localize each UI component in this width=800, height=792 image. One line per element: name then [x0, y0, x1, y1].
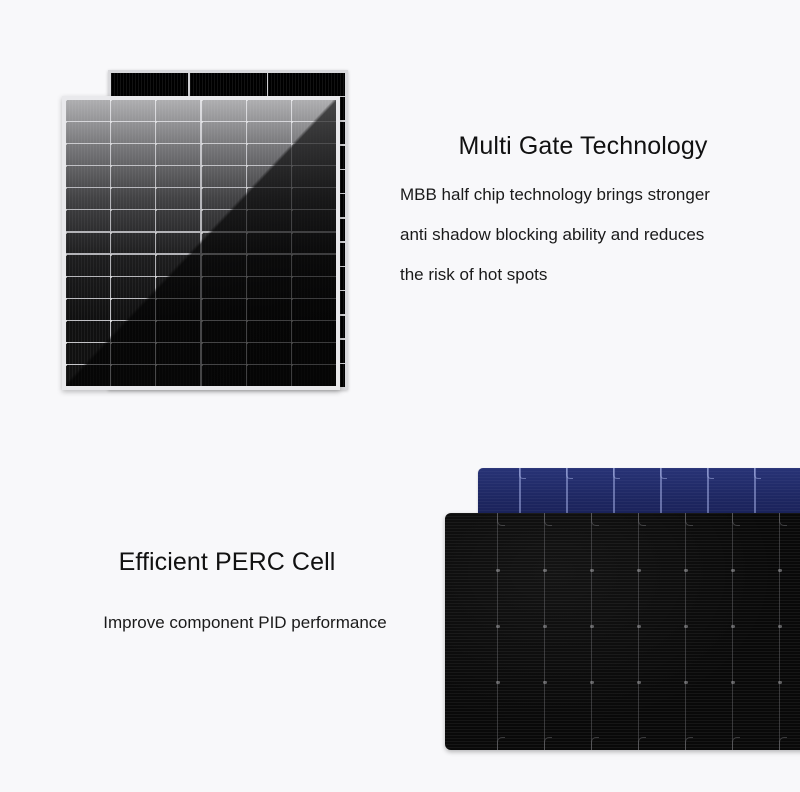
solar-cell [66, 233, 110, 254]
busbar [732, 513, 733, 750]
busbar [685, 513, 686, 750]
solar-cell [66, 343, 110, 364]
busbar-notch-icon [779, 737, 787, 750]
solar-cell [202, 210, 246, 231]
solar-cell [111, 166, 155, 187]
solar-cell [292, 210, 336, 231]
solder-dot [496, 681, 500, 684]
solder-dot [496, 569, 500, 572]
solar-cell [247, 277, 291, 298]
perc-cell-heading: Efficient PERC Cell [60, 548, 430, 577]
solar-cell [66, 100, 110, 121]
solar-cell [111, 299, 155, 320]
busbar [497, 513, 498, 750]
solar-cell [202, 321, 246, 342]
solar-cell [66, 277, 110, 298]
solar-cell [156, 144, 200, 165]
solder-dot [684, 569, 688, 572]
solar-cell [247, 299, 291, 320]
solar-cell [247, 144, 291, 165]
solar-cell [202, 144, 246, 165]
multi-gate-text-block: Multi Gate Technology MBB half chip tech… [400, 132, 780, 305]
solar-cell [111, 188, 155, 209]
solder-dot [731, 569, 735, 572]
solar-cell [111, 210, 155, 231]
solar-cell [111, 365, 155, 386]
solar-cell [156, 233, 200, 254]
solar-cell [247, 166, 291, 187]
solar-cell [66, 321, 110, 342]
section-efficient-perc-cell: Efficient PERC Cell Improve component PI… [0, 430, 800, 792]
busbar [779, 513, 780, 750]
busbar-notch-icon [497, 737, 505, 750]
solar-cell [111, 122, 155, 143]
solder-dot [496, 625, 500, 628]
busbar-notch-icon [638, 737, 646, 750]
solar-module-front-cell-grid [66, 100, 336, 386]
solar-cell [156, 365, 200, 386]
solder-dot [543, 681, 547, 684]
multi-gate-body-line-2: anti shadow blocking ability and reduces [400, 225, 780, 245]
solar-cell [247, 321, 291, 342]
solar-cell [111, 144, 155, 165]
busbar-notch-icon [660, 468, 667, 479]
solar-cell [292, 233, 336, 254]
solar-cell [156, 210, 200, 231]
solder-dot [543, 625, 547, 628]
busbar-notch-icon [638, 513, 646, 526]
busbar-notch-icon [732, 737, 740, 750]
solder-dot [684, 625, 688, 628]
solar-cell [268, 73, 345, 96]
solar-cell [202, 233, 246, 254]
solar-cell [292, 188, 336, 209]
solar-cell [66, 144, 110, 165]
solar-cell [292, 100, 336, 121]
solar-cell [156, 100, 200, 121]
multi-gate-heading: Multi Gate Technology [400, 132, 780, 161]
feature-page: Multi Gate Technology MBB half chip tech… [0, 0, 800, 792]
solar-cell [156, 321, 200, 342]
solar-cell [292, 299, 336, 320]
solar-cell [156, 299, 200, 320]
solar-cell [202, 122, 246, 143]
solar-cell [66, 166, 110, 187]
busbar-notch-icon [732, 513, 740, 526]
solder-dot [637, 625, 641, 628]
solar-cell [111, 343, 155, 364]
section-multi-gate-technology: Multi Gate Technology MBB half chip tech… [0, 0, 800, 430]
solar-cell [111, 100, 155, 121]
busbar-notch-icon [497, 513, 505, 526]
solder-dot [778, 625, 782, 628]
solar-cell [202, 277, 246, 298]
busbar-notch-icon [685, 737, 693, 750]
solar-cell [156, 255, 200, 276]
solar-module-front [62, 96, 340, 390]
solar-cell [247, 233, 291, 254]
solar-cell [66, 122, 110, 143]
solar-cell [292, 365, 336, 386]
solar-cell [202, 188, 246, 209]
solar-cell [202, 100, 246, 121]
solar-cell [202, 365, 246, 386]
solar-cell [66, 365, 110, 386]
perc-cell-black [445, 513, 800, 750]
busbar [544, 513, 545, 750]
solar-cell [156, 188, 200, 209]
busbar-notch-icon [544, 737, 552, 750]
solder-dot [637, 681, 641, 684]
busbar-notch-icon [613, 468, 620, 479]
solar-cell [111, 321, 155, 342]
solar-cell [292, 321, 336, 342]
solar-cell [66, 299, 110, 320]
solar-cell [292, 343, 336, 364]
multi-gate-body-line-3: the risk of hot spots [400, 265, 780, 285]
solar-cell [247, 365, 291, 386]
busbar-notch-icon [591, 737, 599, 750]
solder-dot [590, 681, 594, 684]
busbar-notch-icon [519, 468, 526, 479]
solder-dot [778, 569, 782, 572]
solar-cell [156, 277, 200, 298]
solar-cell [247, 343, 291, 364]
busbar-notch-icon [544, 513, 552, 526]
solar-cell [156, 343, 200, 364]
multi-gate-body-line-1: MBB half chip technology brings stronger [400, 185, 780, 205]
solder-dot [731, 625, 735, 628]
solar-cell [156, 166, 200, 187]
busbar-notch-icon [566, 468, 573, 479]
solar-cell [202, 166, 246, 187]
solar-cell [247, 122, 291, 143]
solder-dot [590, 625, 594, 628]
solar-cell [247, 188, 291, 209]
solar-cell [111, 255, 155, 276]
solar-cell [66, 210, 110, 231]
solder-dot [543, 569, 547, 572]
solder-dot [778, 681, 782, 684]
perc-cell-subtext: Improve component PID performance [60, 613, 430, 633]
solar-cell [247, 210, 291, 231]
solar-cell [66, 188, 110, 209]
busbar-notch-icon [779, 513, 787, 526]
busbar-notch-icon [591, 513, 599, 526]
busbar [638, 513, 639, 750]
solar-cell [202, 299, 246, 320]
solar-cell [202, 255, 246, 276]
solar-cell [292, 144, 336, 165]
solar-cell [292, 277, 336, 298]
busbar-notch-icon [754, 468, 761, 479]
solar-cell [111, 233, 155, 254]
solar-cell [66, 255, 110, 276]
solar-cell [292, 122, 336, 143]
solar-cell [111, 277, 155, 298]
solar-cell [111, 73, 188, 96]
solar-cell [156, 122, 200, 143]
busbar [591, 513, 592, 750]
solar-cell [292, 255, 336, 276]
solar-cell [292, 166, 336, 187]
solder-dot [590, 569, 594, 572]
solar-cell [190, 73, 267, 96]
solder-dot [684, 681, 688, 684]
busbar-notch-icon [685, 513, 693, 526]
solar-cell [202, 343, 246, 364]
solar-cell [247, 100, 291, 121]
busbar-notch-icon [707, 468, 714, 479]
solder-dot [731, 681, 735, 684]
solder-dot [637, 569, 641, 572]
solar-cell [247, 255, 291, 276]
perc-cell-text-block: Efficient PERC Cell Improve component PI… [60, 548, 430, 633]
